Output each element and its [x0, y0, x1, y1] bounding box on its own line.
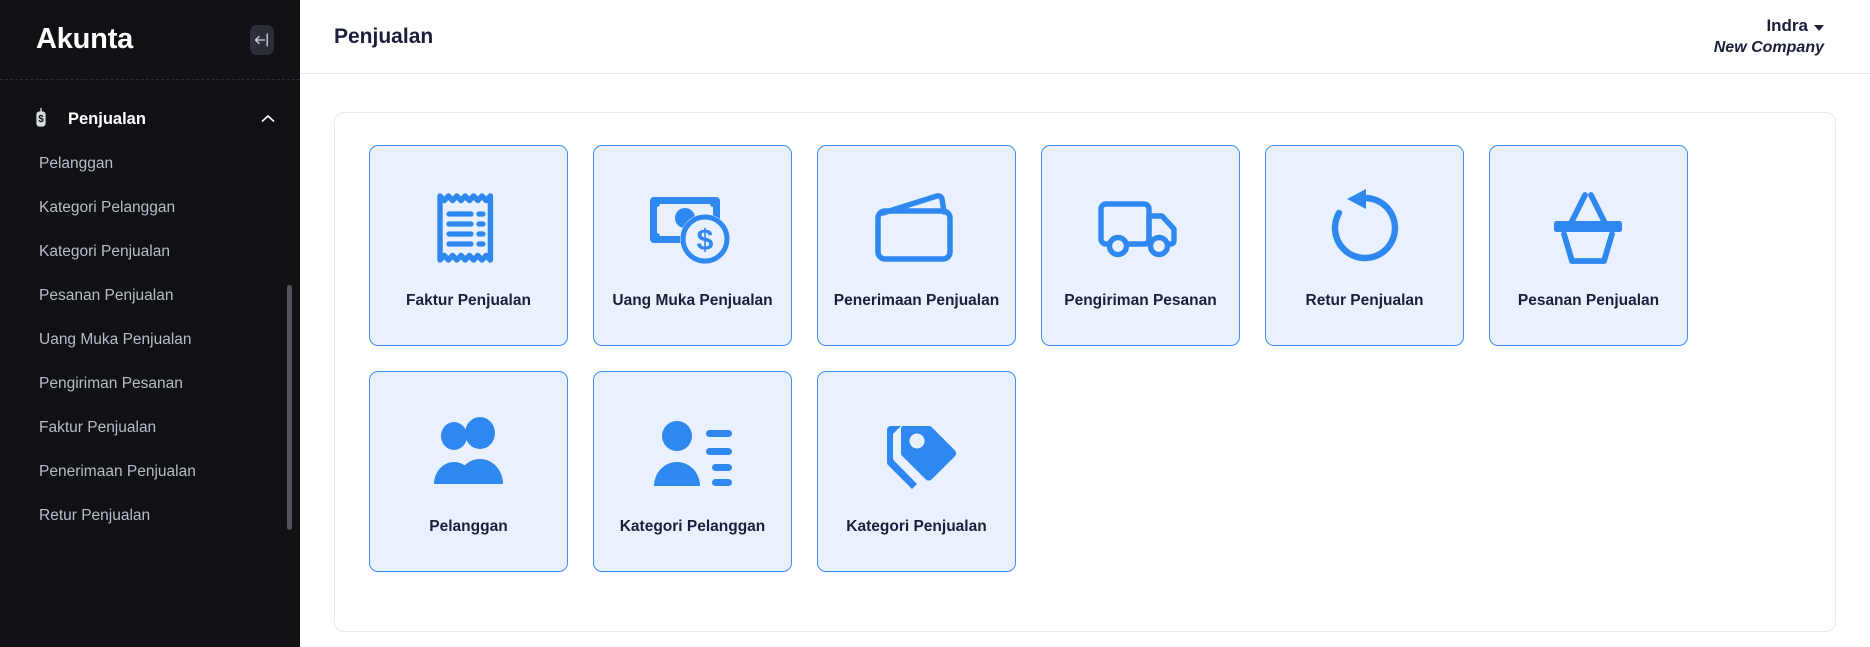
- sidebar-group-label: Penjualan: [68, 110, 260, 129]
- card-faktur-penjualan[interactable]: Faktur Penjualan: [369, 145, 568, 346]
- wallet-icon: [871, 182, 963, 274]
- sidebar-item-penerimaan-penjualan[interactable]: Penerimaan Penjualan: [0, 450, 300, 494]
- sidebar-item-pelanggan[interactable]: Pelanggan: [0, 142, 300, 186]
- sidebar-scrollbar-thumb[interactable]: [287, 285, 292, 530]
- module-card-grid: Faktur Penjualan $: [369, 145, 1801, 572]
- sidebar-item-kategori-pelanggan[interactable]: Kategori Pelanggan: [0, 186, 300, 230]
- chevron-up-icon[interactable]: [260, 111, 276, 127]
- card-kategori-penjualan[interactable]: Kategori Penjualan: [817, 371, 1016, 572]
- user-name-label: Indra: [1766, 16, 1808, 36]
- card-penerimaan-penjualan[interactable]: Penerimaan Penjualan: [817, 145, 1016, 346]
- card-label: Pelanggan: [423, 518, 513, 536]
- sidebar-item-kategori-penjualan[interactable]: Kategori Penjualan: [0, 230, 300, 274]
- sidebar-item-retur-penjualan[interactable]: Retur Penjualan: [0, 494, 300, 538]
- sidebar-item-uang-muka-penjualan[interactable]: Uang Muka Penjualan: [0, 318, 300, 362]
- card-label: Kategori Pelanggan: [614, 518, 772, 536]
- main-area: Penjualan Indra New Company: [300, 0, 1870, 647]
- card-pelanggan[interactable]: Pelanggan: [369, 371, 568, 572]
- sidebar-nav: $ Penjualan Pelanggan Kategori Pelanggan…: [0, 80, 300, 647]
- card-pesanan-penjualan[interactable]: Pesanan Penjualan: [1489, 145, 1688, 346]
- card-label: Uang Muka Penjualan: [606, 292, 778, 310]
- topbar: Penjualan Indra New Company: [300, 0, 1870, 74]
- svg-text:$: $: [38, 114, 44, 125]
- card-label: Faktur Penjualan: [400, 292, 537, 310]
- card-label: Pesanan Penjualan: [1512, 292, 1665, 310]
- people-icon: [423, 408, 515, 500]
- brand-logo: Akunta: [36, 23, 133, 56]
- app-root: Akunta $ Penjualan: [0, 0, 1870, 647]
- card-kategori-pelanggan[interactable]: Kategori Pelanggan: [593, 371, 792, 572]
- sidebar-item-pengiriman-pesanan[interactable]: Pengiriman Pesanan: [0, 362, 300, 406]
- sidebar: Akunta $ Penjualan: [0, 0, 300, 647]
- card-label: Retur Penjualan: [1300, 292, 1430, 310]
- sidebar-group-penjualan[interactable]: $ Penjualan: [0, 96, 300, 142]
- svg-text:$: $: [696, 224, 713, 257]
- person-list-icon: [647, 408, 739, 500]
- card-label: Kategori Penjualan: [840, 518, 992, 536]
- sidebar-item-faktur-penjualan[interactable]: Faktur Penjualan: [0, 406, 300, 450]
- user-name-button[interactable]: Indra: [1766, 16, 1824, 36]
- module-panel: Faktur Penjualan $: [334, 112, 1836, 632]
- sidebar-item-pesanan-penjualan[interactable]: Pesanan Penjualan: [0, 274, 300, 318]
- card-label: Penerimaan Penjualan: [828, 292, 1005, 310]
- page-title: Penjualan: [334, 25, 433, 49]
- sidebar-header: Akunta: [0, 0, 300, 80]
- company-name: New Company: [1714, 39, 1824, 57]
- price-tag-dollar-icon: $: [28, 106, 54, 132]
- banknote-dollar-icon: $: [647, 182, 739, 274]
- content-area: Faktur Penjualan $: [300, 74, 1870, 647]
- card-uang-muka-penjualan[interactable]: $ Uang Muka Penjualan: [593, 145, 792, 346]
- tags-icon: [871, 408, 963, 500]
- card-retur-penjualan[interactable]: Retur Penjualan: [1265, 145, 1464, 346]
- user-menu[interactable]: Indra New Company: [1714, 16, 1836, 57]
- truck-icon: [1095, 182, 1187, 274]
- chevron-down-icon[interactable]: [1814, 25, 1824, 31]
- card-pengiriman-pesanan[interactable]: Pengiriman Pesanan: [1041, 145, 1240, 346]
- receipt-icon: [423, 182, 515, 274]
- card-label: Pengiriman Pesanan: [1058, 292, 1222, 310]
- rotate-left-icon: [1319, 182, 1411, 274]
- basket-icon: [1543, 182, 1635, 274]
- collapse-left-icon[interactable]: [250, 25, 274, 55]
